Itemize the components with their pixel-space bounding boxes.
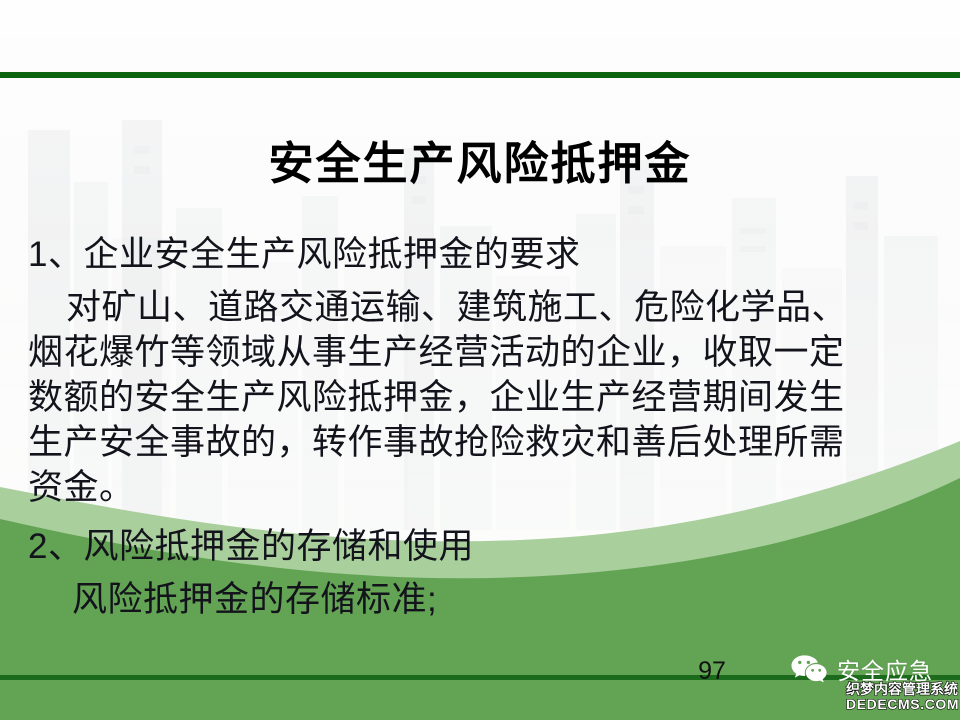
- presentation-slide: 安全生产风险抵押金 1、企业安全生产风险抵押金的要求 对矿山、道路交通运输、建筑…: [0, 0, 960, 720]
- paragraph-line: 生产安全事故的，转作事故抢险救灾和善后处理所需: [28, 420, 940, 465]
- watermark-domain: DEDECMS.COM: [846, 697, 958, 711]
- page-number: 97: [682, 657, 742, 686]
- spacer: [28, 277, 940, 285]
- paragraph-line: 烟花爆竹等领域从事生产经营活动的企业，收取一定: [28, 330, 940, 375]
- slide-body: 1、企业安全生产风险抵押金的要求 对矿山、道路交通运输、建筑施工、危险化学品、 …: [28, 232, 940, 622]
- top-accent-rule: [0, 72, 960, 78]
- watermark: 织梦内容管理系统 DEDECMS.COM: [846, 682, 958, 711]
- watermark-chinese: 织梦内容管理系统: [846, 682, 958, 696]
- section-2-item: 风险抵押金的存储标准;: [28, 577, 940, 622]
- page-title: 安全生产风险抵押金: [0, 140, 960, 189]
- section-1-heading: 1、企业安全生产风险抵押金的要求: [28, 232, 940, 277]
- spacer: [28, 569, 940, 577]
- section-2-heading: 2、风险抵押金的存储和使用: [28, 524, 940, 569]
- paragraph-line: 资金。: [28, 465, 940, 510]
- wechat-icon: [790, 654, 828, 684]
- paragraph-line: 数额的安全生产风险抵押金，企业生产经营期间发生: [28, 375, 940, 420]
- paragraph-line: 对矿山、道路交通运输、建筑施工、危险化学品、: [28, 285, 940, 330]
- spacer: [28, 510, 940, 524]
